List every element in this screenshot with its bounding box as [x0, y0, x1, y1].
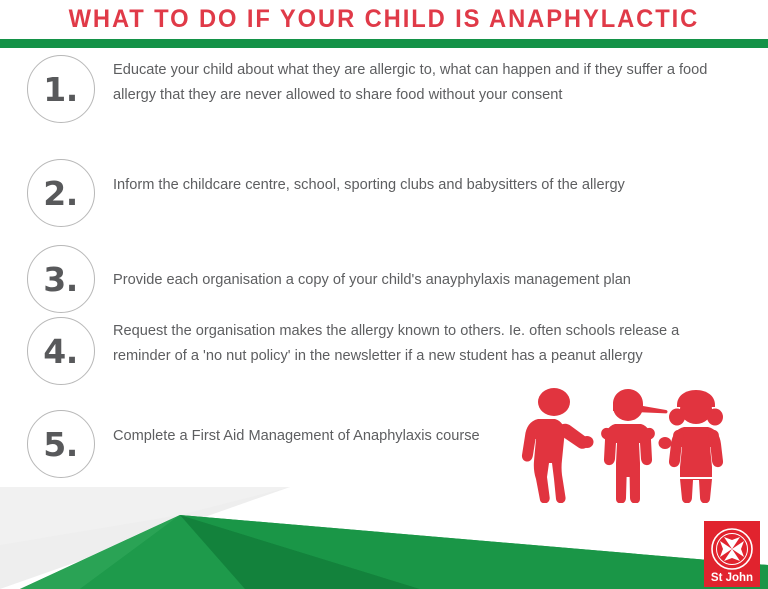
step-text-5: Complete a First Aid Management of Anaph… — [95, 410, 525, 449]
step-number-label: 5. — [43, 428, 78, 461]
step-number-badge-4: 4. — [27, 317, 95, 385]
list-item-step-2: 2. Inform the childcare centre, school, … — [27, 159, 762, 227]
logo-wordmark: St John — [711, 572, 753, 584]
gray-wedge-shape-2 — [0, 487, 290, 545]
step-number-label: 2. — [43, 177, 78, 210]
step-number-label: 3. — [43, 263, 78, 296]
page-title: WHAT TO DO IF YOUR CHILD IS ANAPHYLACTIC — [69, 6, 700, 32]
step-text-3: Provide each organisation a copy of your… — [95, 245, 755, 293]
list-item-step-4: 4. Request the organisation makes the al… — [27, 317, 762, 385]
step-number-label: 4. — [43, 335, 78, 368]
green-mountain-facet-a — [20, 515, 180, 589]
step-number-badge-1: 1. — [27, 55, 95, 123]
step-number-badge-3: 3. — [27, 245, 95, 313]
st-john-logo: St John — [704, 521, 760, 587]
list-item-step-5: 5. Complete a First Aid Management of An… — [27, 410, 547, 478]
green-mountain-facet-d — [180, 515, 768, 589]
step-text-4: Request the organisation makes the aller… — [95, 317, 740, 369]
green-mountain-facet-c — [180, 515, 420, 589]
girl-with-hat-figure — [669, 390, 723, 503]
step-text-1: Educate your child about what they are a… — [95, 55, 747, 108]
title-bar: WHAT TO DO IF YOUR CHILD IS ANAPHYLACTIC — [0, 0, 768, 38]
step-text-2: Inform the childcare centre, school, spo… — [95, 159, 735, 198]
green-mountain-facet-b — [80, 515, 245, 589]
gray-wedge-shape — [0, 487, 290, 589]
list-item-step-1: 1. Educate your child about what they ar… — [27, 55, 762, 123]
green-divider-bar — [0, 39, 768, 48]
step-number-label: 1. — [43, 73, 78, 106]
three-people-holding-hands-illustration — [516, 387, 736, 503]
boy-with-cap-figure — [601, 389, 667, 503]
step-number-badge-2: 2. — [27, 159, 95, 227]
list-item-step-3: 3. Provide each organisation a copy of y… — [27, 245, 767, 313]
infographic-poster: WHAT TO DO IF YOUR CHILD IS ANAPHYLACTIC… — [0, 0, 768, 589]
step-number-badge-5: 5. — [27, 410, 95, 478]
green-mountain-left — [20, 515, 768, 589]
